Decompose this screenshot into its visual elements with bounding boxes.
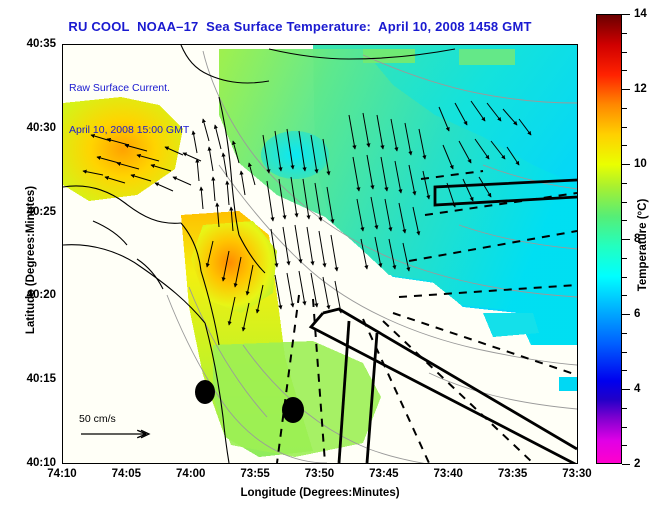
x-tick-label: 74:10 [47,468,76,480]
colorbar-major-tick [622,464,630,465]
colorbar-minor-tick [622,258,627,259]
scale-bar-arrow-icon [79,428,155,440]
colorbar-gradient [597,15,621,463]
colorbar-tick-label: 12 [634,83,647,95]
colorbar-minor-tick [622,427,627,428]
colorbar-minor-tick [622,145,627,146]
colorbar-major-tick [622,314,630,315]
sst-figure: RU COOL NOAA–17 Sea Surface Temperature:… [0,0,651,519]
colorbar-minor-tick [622,33,627,34]
colorbar-major-tick [622,14,630,15]
colorbar-major-tick [622,389,630,390]
x-tick-label: 73:50 [305,468,334,480]
x-tick-label: 73:55 [240,468,269,480]
y-axis-title: Latitude (Degrees:Minutes) [25,145,37,375]
colorbar-minor-tick [622,52,627,53]
y-tick-label: 40:35 [4,38,56,50]
colorbar-minor-tick [622,370,627,371]
colorbar-minor-tick [622,70,627,71]
x-axis-title: Longitude (Degrees:Minutes) [62,487,578,499]
scale-bar-label: 50 cm/s [79,413,165,425]
x-tick-label: 74:05 [112,468,141,480]
y-tick-label: 40:30 [4,122,56,134]
figure-title: RU COOL NOAA–17 Sea Surface Temperature:… [0,19,600,34]
map-plot-area[interactable]: Raw Surface Current. April 10, 2008 15:0… [62,44,578,464]
colorbar-minor-tick [622,333,627,334]
colorbar-minor-tick [622,352,627,353]
colorbar-minor-tick [622,183,627,184]
colorbar-minor-tick [622,220,627,221]
x-tick-label: 73:40 [434,468,463,480]
colorbar-minor-tick [622,445,627,446]
x-tick-label: 73:45 [369,468,398,480]
colorbar-minor-tick [622,408,627,409]
colorbar-minor-tick [622,202,627,203]
x-tick-label: 73:35 [498,468,527,480]
colorbar[interactable] [596,14,622,464]
colorbar-tick-label: 14 [634,8,647,20]
colorbar-minor-tick [622,277,627,278]
colorbar-tick-label: 4 [634,383,640,395]
colorbar-minor-tick [622,127,627,128]
map-canvas [63,45,577,463]
colorbar-tick-label: 2 [634,458,640,470]
colorbar-minor-tick [622,295,627,296]
x-tick-label: 73:30 [562,468,591,480]
colorbar-title: Temperature (°C) [637,160,649,330]
colorbar-major-tick [622,239,630,240]
velocity-scale-bar: 50 cm/s [79,413,165,445]
colorbar-major-tick [622,89,630,90]
x-tick-label: 74:00 [176,468,205,480]
colorbar-minor-tick [622,108,627,109]
y-tick-label: 40:10 [4,457,56,469]
colorbar-major-tick [622,164,630,165]
